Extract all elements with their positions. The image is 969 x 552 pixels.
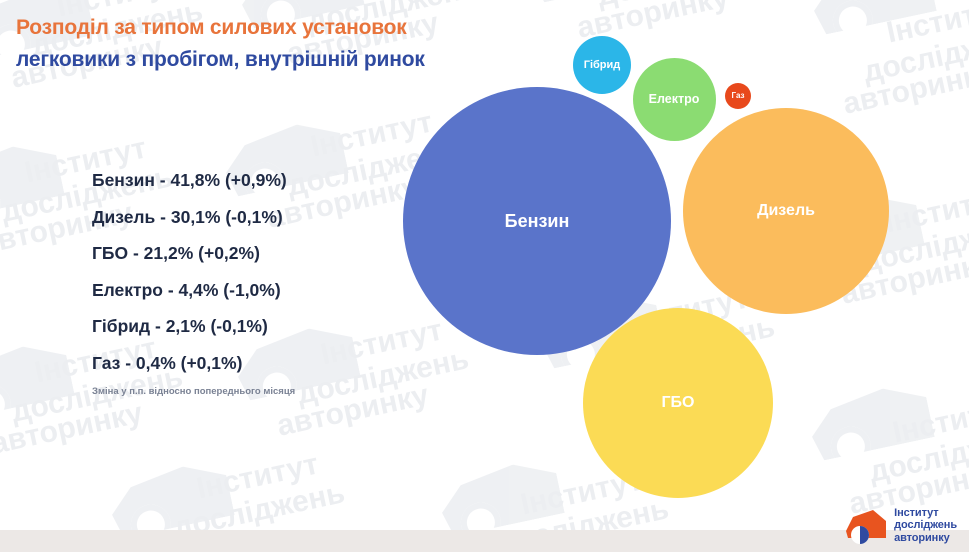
legend-item-hibryd: Гібрид - 2,1% (-0,1%)	[92, 318, 287, 336]
car-logo-svg	[845, 508, 887, 544]
legend-item-haz: Газ - 0,4% (+0,1%)	[92, 355, 287, 373]
bubble-label: Дизель	[757, 203, 815, 219]
title-line-secondary: легковики з пробігом, внутрішній ринок	[16, 48, 425, 72]
legend-item-benzyn: Бензин - 41,8% (+0,9%)	[92, 172, 287, 190]
car-logo-icon	[845, 508, 887, 544]
legend-item-dyzel: Дизель - 30,1% (-0,1%)	[92, 209, 287, 227]
bubble-гбо[interactable]: ГБО	[583, 308, 773, 498]
bubble-електро[interactable]: Електро	[633, 58, 716, 141]
legend-item-elektro: Електро - 4,4% (-1,0%)	[92, 282, 287, 300]
title-line-primary: Розподіл за типом силових установок	[16, 16, 425, 40]
logo-text: Інститут досліджень авторинку	[894, 507, 957, 544]
bubble-label: Електро	[649, 93, 700, 106]
logo-text-line2: досліджень	[894, 519, 957, 531]
bubble-label: Газ	[732, 92, 745, 100]
bubble-label: Гібрид	[584, 60, 621, 71]
legend-footnote: Зміна у п.п. відносно попереднього місяц…	[92, 386, 295, 397]
bubble-дизель[interactable]: Дизель	[683, 108, 889, 314]
brand-logo: Інститут досліджень авторинку	[845, 507, 957, 544]
legend-item-gbo: ГБО - 21,2% (+0,2%)	[92, 245, 287, 263]
legend-list: Бензин - 41,8% (+0,9%) Дизель - 30,1% (-…	[92, 172, 287, 391]
bubble-label: Бензин	[505, 212, 570, 230]
slide-root: Інститут досліджень авторинку Інститут д…	[0, 0, 969, 552]
bubble-гібрид[interactable]: Гібрид	[573, 36, 631, 94]
bubble-label: ГБО	[661, 395, 694, 411]
page-title: Розподіл за типом силових установок легк…	[16, 16, 425, 72]
bubble-газ[interactable]: Газ	[725, 83, 751, 109]
bubble-бензин[interactable]: Бензин	[403, 87, 671, 355]
logo-text-line3: авторинку	[894, 532, 957, 544]
logo-text-line1: Інститут	[894, 507, 957, 519]
